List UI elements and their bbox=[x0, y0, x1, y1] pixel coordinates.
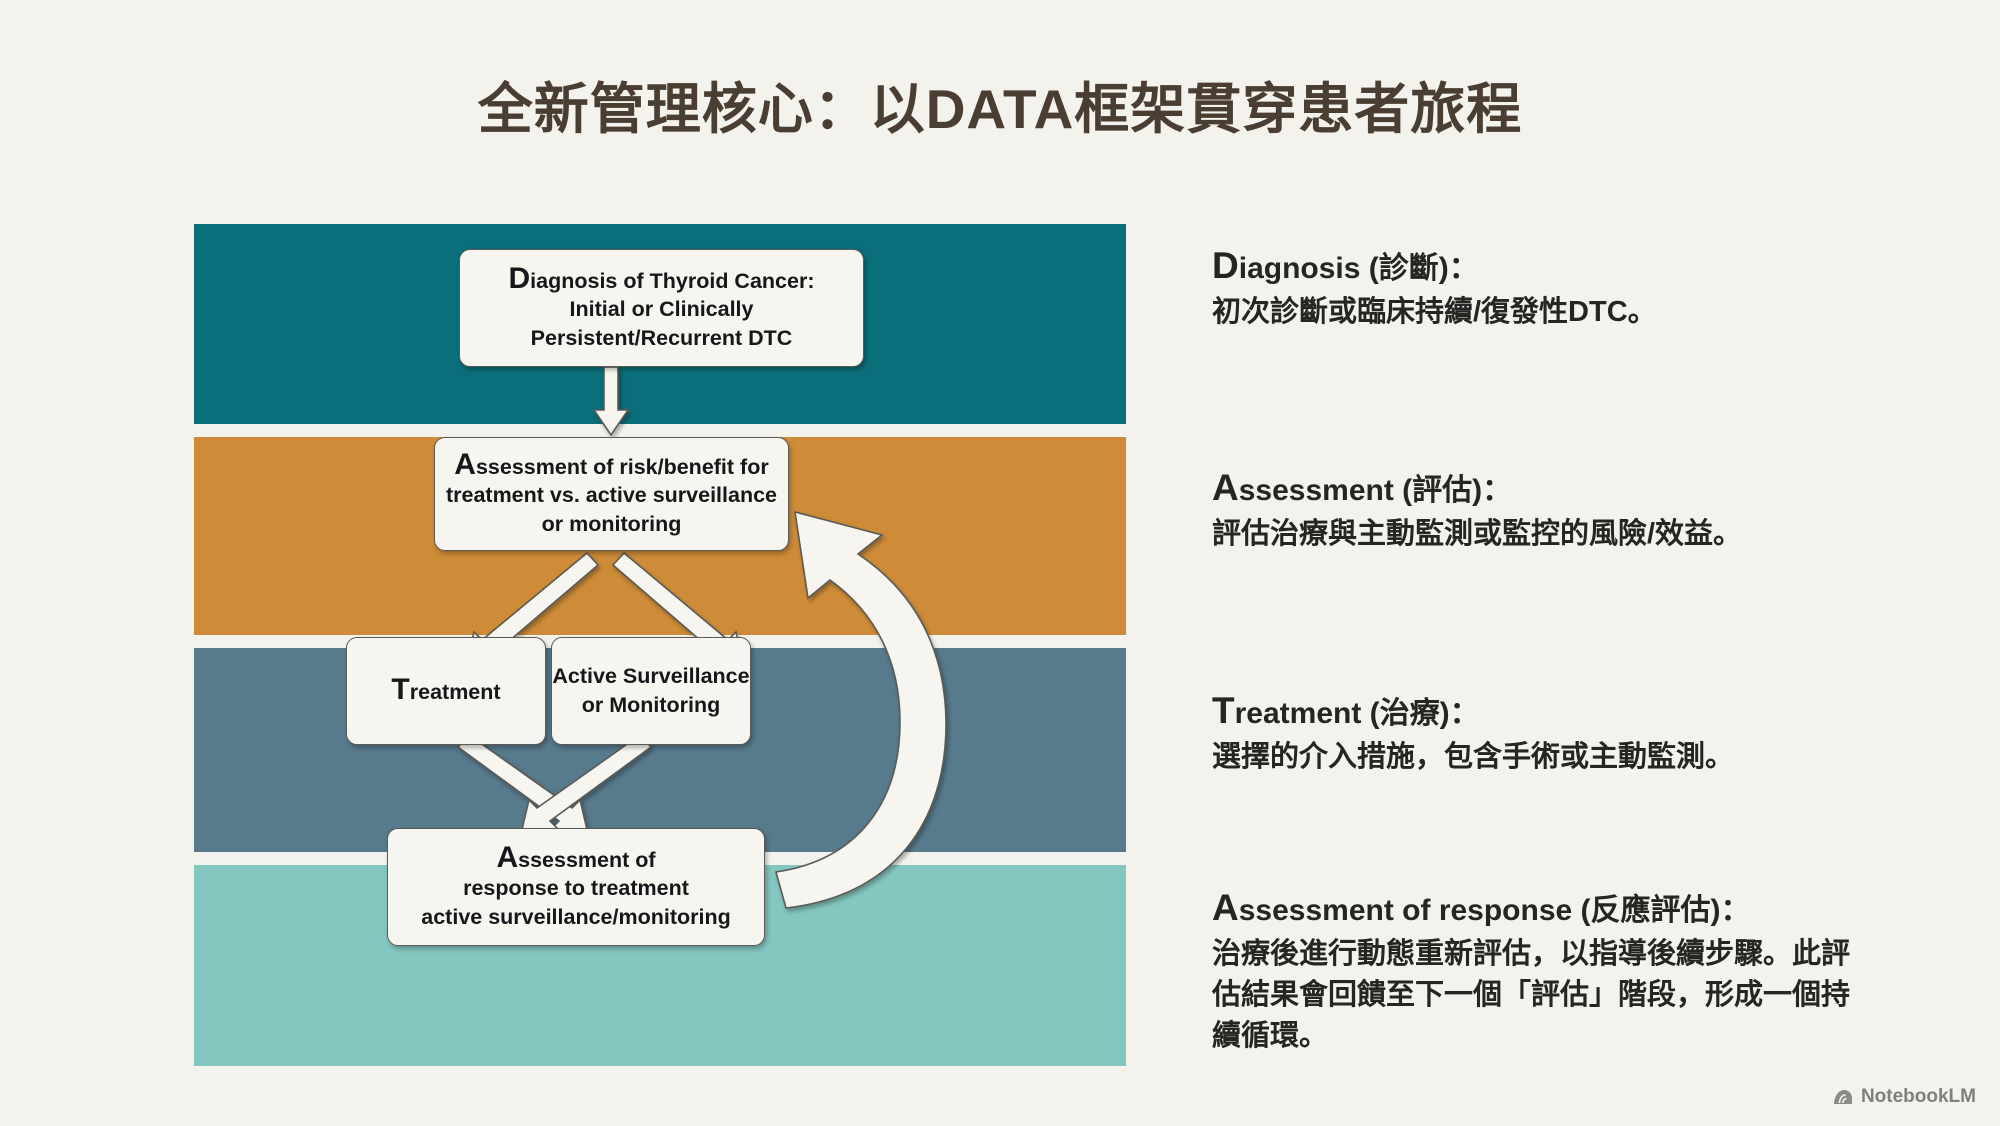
legend-item-diagnosis-heading-rest: iagnosis (診斷)： bbox=[1239, 252, 1479, 285]
node-assessment-risk-line-2: treatment vs. active surveillance bbox=[446, 481, 777, 510]
node-diagnosis-line-1: Diagnosis of Thyroid Cancer: bbox=[509, 264, 815, 296]
node-assessment-risk: Assessment of risk/benefit for treatment… bbox=[434, 437, 789, 551]
legend-item-assessment-heading: Assessment (評估)： bbox=[1212, 464, 1912, 512]
node-treatment-initial: T bbox=[391, 673, 409, 706]
node-assessment-risk-initial: A bbox=[454, 448, 476, 481]
node-treatment-line-1: Treatment bbox=[391, 675, 500, 707]
node-diagnosis-line-3: Persistent/Recurrent DTC bbox=[531, 324, 793, 353]
legend-item-assessment-of-response-heading-rest: ssessment of response (反應評估)： bbox=[1239, 894, 1751, 927]
legend-item-assessment-of-response-heading: Assessment of response (反應評估)： bbox=[1212, 884, 1912, 932]
node-diagnosis: Diagnosis of Thyroid Cancer: Initial or … bbox=[459, 249, 864, 367]
node-assessment-risk-line-1: Assessment of risk/benefit for bbox=[454, 450, 768, 482]
legend-item-assessment: Assessment (評估)： 評估治療與主動監測或監控的風險/效益。 bbox=[1212, 464, 1912, 555]
legend-item-diagnosis-heading: Diagnosis (診斷)： bbox=[1212, 242, 1912, 290]
node-diagnosis-initial: D bbox=[509, 262, 531, 295]
node-response-title: ssessment of bbox=[518, 848, 655, 872]
node-response-line-3: active surveillance/monitoring bbox=[421, 903, 730, 932]
legend-item-assessment-of-response-initial: A bbox=[1212, 887, 1239, 928]
node-treatment: Treatment bbox=[346, 637, 546, 745]
node-assessment-of-response: Assessment of response to treatment acti… bbox=[387, 828, 765, 946]
legend-text-panel: Diagnosis (診斷)： 初次診斷或臨床持續/復發性DTC。 Assess… bbox=[1212, 224, 1912, 1074]
legend-item-treatment-body: 選擇的介入措施，包含手術或主動監測。 bbox=[1212, 737, 1872, 778]
node-response-line-2: response to treatment bbox=[463, 874, 689, 903]
legend-item-diagnosis: Diagnosis (診斷)： 初次診斷或臨床持續/復發性DTC。 bbox=[1212, 242, 1912, 333]
legend-item-treatment-heading: Treatment (治療)： bbox=[1212, 687, 1912, 735]
legend-item-assessment-heading-rest: ssessment (評估)： bbox=[1239, 474, 1512, 507]
node-assessment-risk-line-3: or monitoring bbox=[542, 510, 682, 539]
data-framework-flowchart: Diagnosis of Thyroid Cancer: Initial or … bbox=[194, 224, 1126, 1066]
node-active-surveillance: Active Surveillance or Monitoring bbox=[551, 637, 751, 745]
node-active-surveillance-line-2: or Monitoring bbox=[582, 691, 721, 720]
node-active-surveillance-line-1: Active Surveillance bbox=[552, 662, 749, 691]
node-diagnosis-line-2: Initial or Clinically bbox=[570, 295, 754, 324]
legend-item-diagnosis-initial: D bbox=[1212, 245, 1239, 286]
legend-item-treatment: Treatment (治療)： 選擇的介入措施，包含手術或主動監測。 bbox=[1212, 687, 1912, 778]
legend-item-diagnosis-body: 初次診斷或臨床持續/復發性DTC。 bbox=[1212, 292, 1872, 333]
legend-item-assessment-of-response: Assessment of response (反應評估)： 治療後進行動態重新… bbox=[1212, 884, 1912, 1058]
legend-item-assessment-initial: A bbox=[1212, 467, 1239, 508]
node-assessment-risk-title: ssessment of risk/benefit for bbox=[476, 455, 769, 479]
page-title: 全新管理核心：以DATA框架貫穿患者旅程 bbox=[0, 78, 2000, 141]
legend-item-assessment-of-response-body: 治療後進行動態重新評估，以指導後續步驟。此評估結果會回饋至下一個「評估」階段，形… bbox=[1212, 934, 1872, 1058]
node-response-line-1: Assessment of bbox=[496, 843, 655, 875]
node-treatment-title: reatment bbox=[410, 680, 501, 704]
notebooklm-label: NotebookLM bbox=[1861, 1086, 1976, 1108]
legend-item-treatment-heading-rest: reatment (治療)： bbox=[1235, 697, 1480, 730]
node-diagnosis-title: iagnosis of Thyroid Cancer: bbox=[530, 269, 814, 293]
legend-item-treatment-initial: T bbox=[1212, 690, 1235, 731]
notebooklm-watermark: NotebookLM bbox=[1832, 1086, 1976, 1108]
legend-item-assessment-body: 評估治療與主動監測或監控的風險/效益。 bbox=[1212, 514, 1872, 555]
notebooklm-icon bbox=[1832, 1088, 1854, 1106]
node-response-initial: A bbox=[496, 841, 518, 874]
